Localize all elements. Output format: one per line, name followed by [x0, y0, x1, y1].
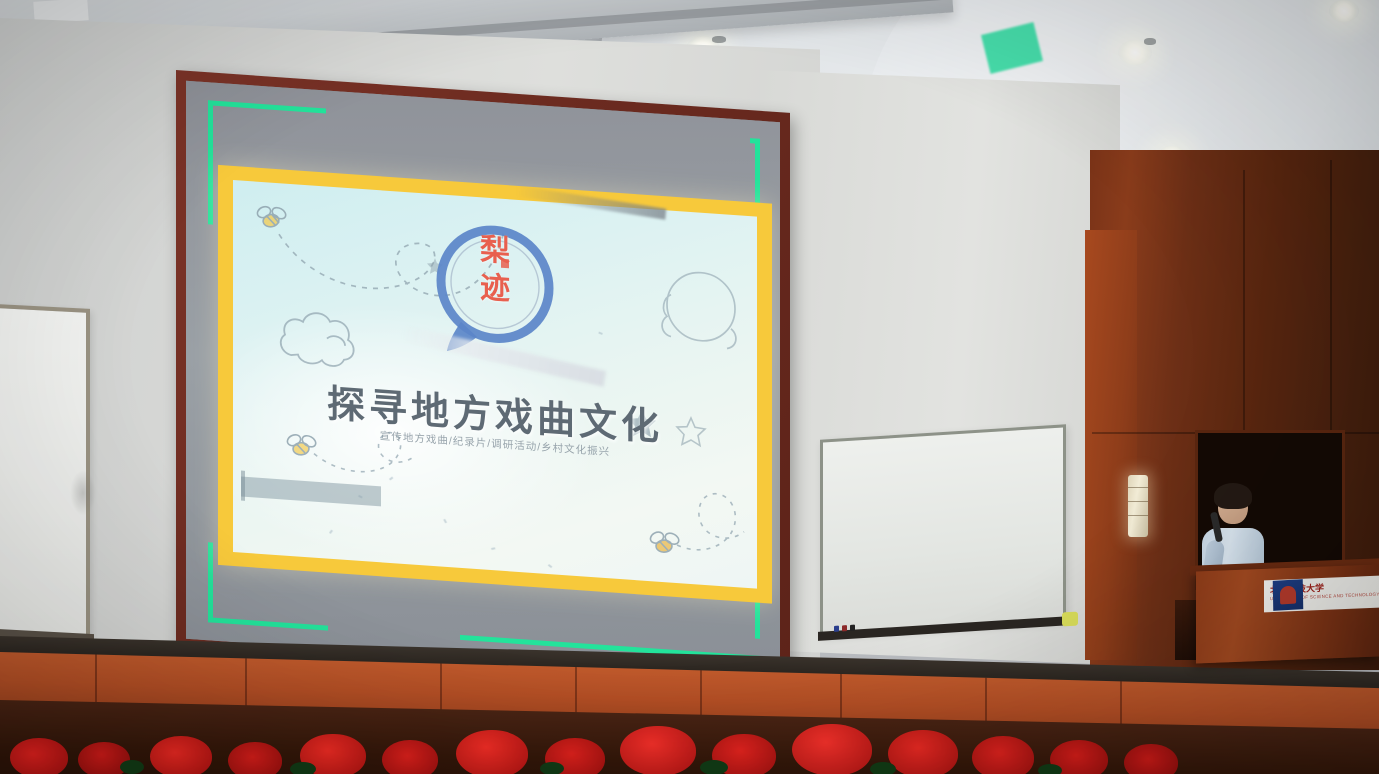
lecture-hall-photo: 梨 迹 探寻地方戏曲文化 宣传地方戏曲/纪录片/调研活动/乡村文化振兴	[0, 0, 1379, 774]
whiteboard-right	[820, 424, 1066, 635]
speaker-hair	[1214, 483, 1252, 509]
flower	[382, 740, 438, 774]
flower	[972, 736, 1034, 774]
projected-image-area: 梨 迹 探寻地方戏曲文化 宣传地方戏曲/纪录片/调研活动/乡村文化振兴	[186, 81, 780, 681]
slide-footer-bar	[241, 477, 381, 507]
marker-black	[850, 625, 855, 631]
ui-bracket-bottom-left-icon	[208, 617, 328, 630]
flower	[456, 730, 528, 774]
wall-sconce-lamp	[1128, 475, 1148, 537]
ui-bracket-bottom-left-icon	[208, 542, 213, 622]
marker-red	[842, 625, 847, 631]
flower-row	[0, 716, 1379, 774]
marker-blue	[834, 626, 839, 632]
flower	[228, 742, 282, 774]
ui-bracket-top-left-icon	[208, 100, 326, 113]
cloud-icon	[662, 270, 736, 349]
ceiling-light-fixture	[1144, 38, 1156, 45]
slide-canvas: 梨 迹 探寻地方戏曲文化 宣传地方戏曲/纪录片/调研活动/乡村文化振兴	[233, 180, 757, 589]
flower	[10, 738, 68, 774]
projection-screen-surface: 梨 迹 探寻地方戏曲文化 宣传地方戏曲/纪录片/调研活动/乡村文化振兴	[186, 81, 780, 681]
flower	[792, 724, 872, 774]
flower	[620, 726, 696, 774]
ceiling-light	[1329, 0, 1359, 22]
flower	[888, 730, 958, 774]
university-emblem	[1273, 579, 1304, 611]
projection-screen-frame: 梨 迹 探寻地方戏曲文化 宣传地方戏曲/纪录片/调研活动/乡村文化振兴	[176, 70, 790, 691]
logo-seal-mark	[501, 259, 509, 269]
cloud-icon	[281, 311, 354, 368]
ui-bracket-top-left-icon	[208, 100, 213, 224]
whiteboard-smudge	[70, 470, 96, 516]
bee-icon	[255, 204, 287, 230]
flower	[1124, 744, 1178, 774]
bee-icon	[648, 529, 680, 554]
dashed-trail-icon	[677, 491, 744, 553]
slide-footer-tick	[241, 471, 245, 501]
wood-pillar	[1085, 230, 1137, 660]
emblem-shape-icon	[1280, 586, 1296, 605]
eraser	[1062, 612, 1078, 627]
ceiling-light-fixture	[712, 36, 726, 43]
flower	[150, 736, 212, 774]
presentation-slide: 梨 迹 探寻地方戏曲文化 宣传地方戏曲/纪录片/调研活动/乡村文化振兴	[218, 165, 772, 604]
